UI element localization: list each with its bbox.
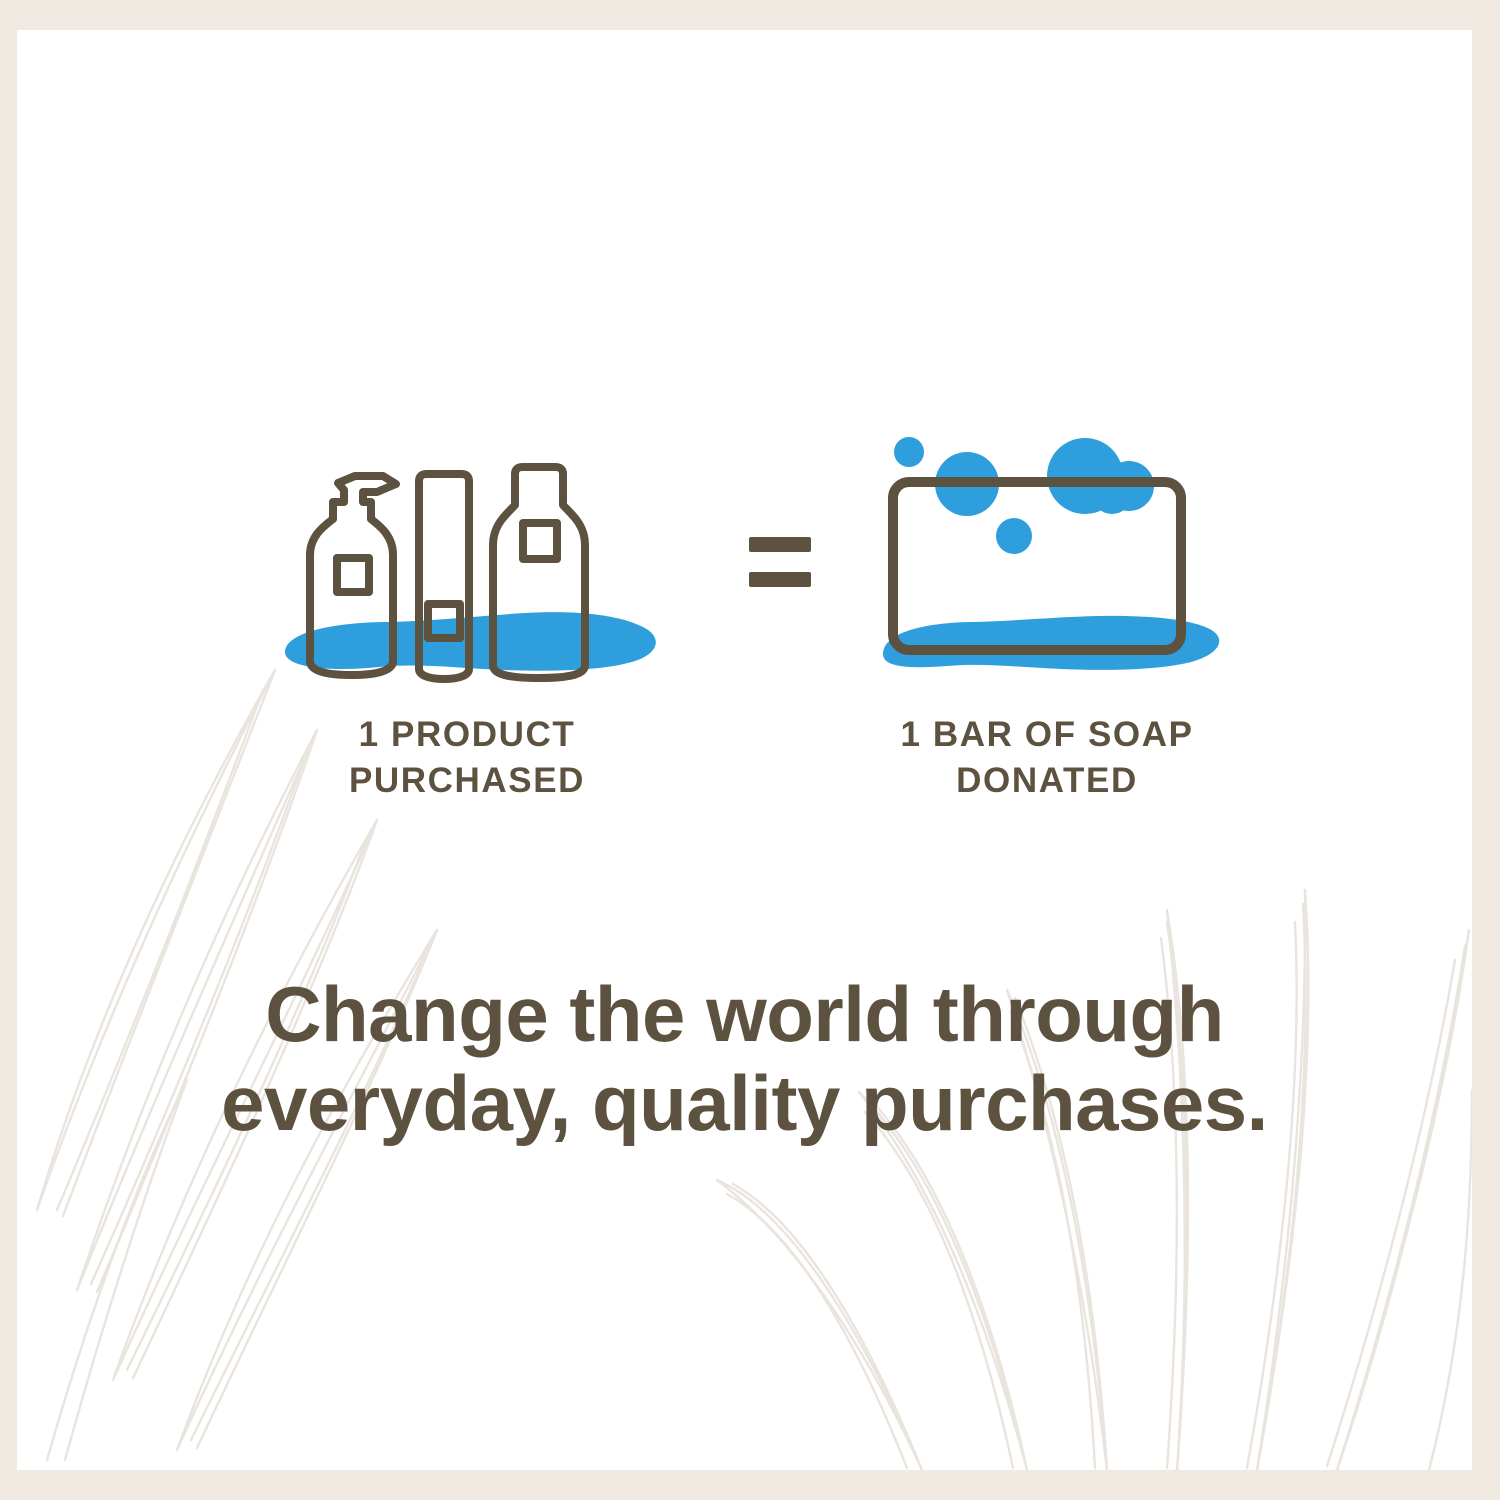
bubble-small-top (894, 437, 924, 467)
purchased-block: 1 PRODUCT PURCHASED (257, 420, 677, 804)
donated-caption-line2: DONATED (847, 758, 1247, 804)
headline-line2: everyday, quality purchases. (17, 1059, 1472, 1148)
purchased-caption-line1: 1 PRODUCT (257, 712, 677, 758)
soap-bar-with-bubbles-icon (867, 420, 1227, 690)
headline-line1: Change the world through (17, 970, 1472, 1059)
donated-block: 1 BAR OF SOAP DONATED (847, 420, 1247, 804)
equals-bar-bottom (749, 572, 811, 587)
equals-icon (749, 537, 811, 587)
headline: Change the world through everyday, quali… (17, 970, 1472, 1148)
poster-root: 1 PRODUCT PURCHASED (0, 0, 1500, 1500)
soap-puddle-shape (883, 616, 1219, 670)
donated-caption-line1: 1 BAR OF SOAP (847, 712, 1247, 758)
round-bottle-label (523, 523, 557, 559)
comparison-row: 1 PRODUCT PURCHASED (17, 420, 1472, 840)
bubble-small-inner (996, 518, 1032, 554)
equals-bar-top (749, 537, 811, 552)
purchased-caption: 1 PRODUCT PURCHASED (257, 712, 677, 804)
three-bottles-icon (267, 420, 667, 690)
pump-bottle-label (337, 558, 369, 592)
purchased-caption-line2: PURCHASED (257, 758, 677, 804)
donated-caption: 1 BAR OF SOAP DONATED (847, 712, 1247, 804)
foam-cluster (1047, 438, 1154, 514)
poster-canvas: 1 PRODUCT PURCHASED (17, 30, 1472, 1470)
